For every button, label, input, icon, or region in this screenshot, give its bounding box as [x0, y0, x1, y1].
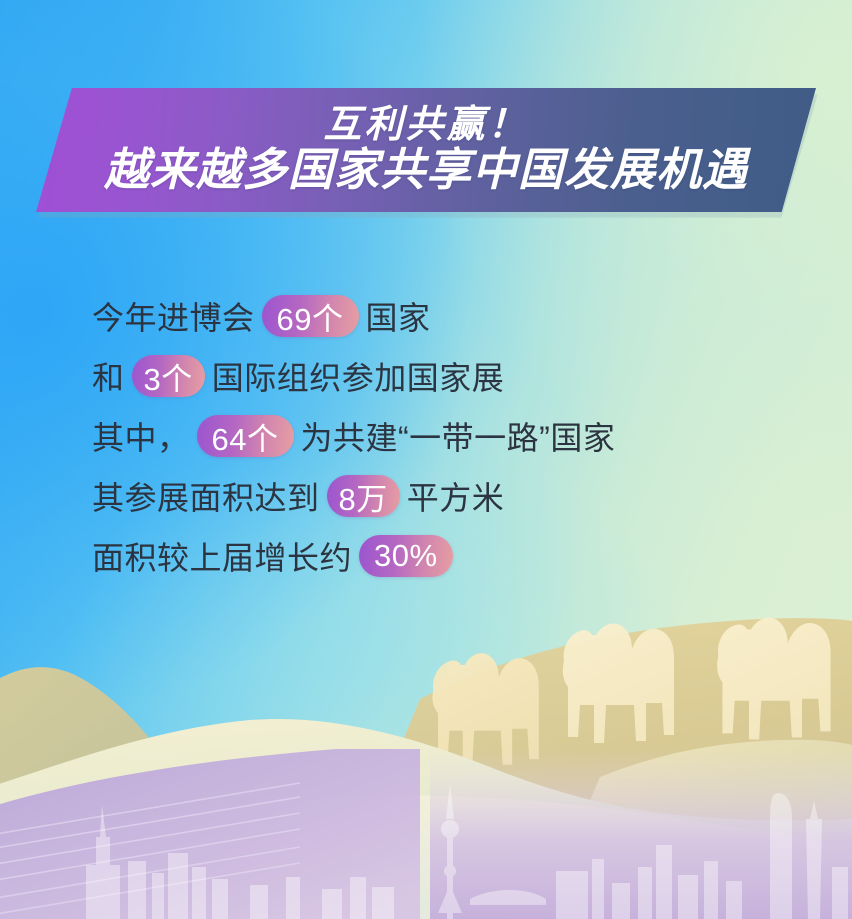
infographic-poster: 互利共赢！ 越来越多国家共享中国发展机遇 今年进博会69个国家和3个国际组织参加…: [0, 0, 852, 919]
highlight-pill: 3个: [132, 355, 205, 397]
fact-text: 国际组织参加国家展: [212, 353, 505, 399]
banner-title-line-1: 互利共赢！: [323, 106, 528, 146]
city-skyline-band: [0, 749, 852, 919]
title-banner: 互利共赢！ 越来越多国家共享中国发展机遇: [36, 88, 816, 212]
shanghai-tower: [770, 793, 792, 919]
fact-text: 面积较上届增长约: [92, 533, 352, 579]
banner-title-line-2: 越来越多国家共享中国发展机遇: [104, 147, 748, 194]
fact-text: 和: [92, 353, 125, 399]
line-organizations: 和3个国际组织参加国家展: [92, 346, 792, 406]
line-growth: 面积较上届增长约30%: [92, 526, 792, 586]
banner-text-block: 互利共赢！ 越来越多国家共享中国发展机遇: [36, 88, 816, 212]
highlight-pill: 69个: [262, 295, 359, 337]
highlight-pill: 8万: [327, 475, 400, 517]
fact-text: 平方米: [407, 473, 505, 519]
highlight-pill: 30%: [359, 535, 453, 577]
line-belt-and-road: 其中，64个为共建“一带一路”国家: [92, 406, 792, 466]
line-exhibit-area: 其参展面积达到8万平方米: [92, 466, 792, 526]
fact-text: 其中，: [92, 413, 190, 459]
fact-text: 国家: [366, 293, 431, 339]
fact-text: 为共建“一带一路”国家: [301, 413, 616, 459]
highlight-pill: 64个: [197, 415, 294, 457]
fact-text: 其参展面积达到: [92, 473, 320, 519]
line-countries: 今年进博会69个国家: [92, 286, 792, 346]
fact-text: 今年进博会: [92, 293, 255, 339]
fact-list: 今年进博会69个国家和3个国际组织参加国家展其中，64个为共建“一带一路”国家其…: [92, 286, 792, 586]
